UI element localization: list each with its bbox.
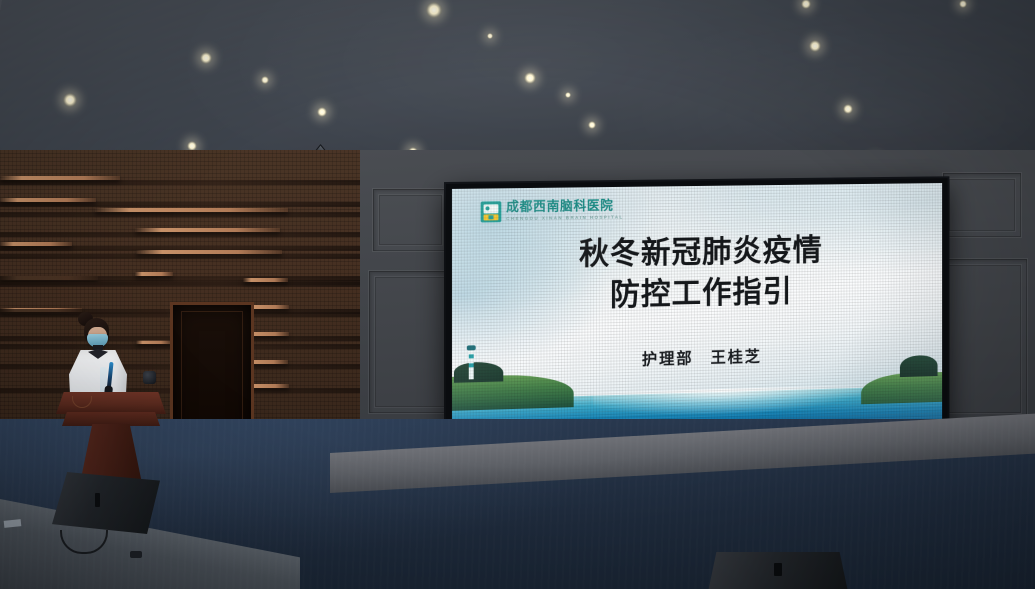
hospital-logo: 成都西南脑科医院 CHENGDU XINAN BRAIN HOSPITAL	[480, 199, 623, 222]
ceiling-downlight	[317, 107, 327, 117]
ceiling-downlight	[809, 40, 821, 52]
slide-title-line-2: 防控工作指引	[452, 269, 942, 320]
wall-panel	[372, 188, 449, 252]
ceiling-downlight	[261, 76, 269, 84]
hospital-bed-logo-icon	[480, 201, 501, 222]
stage-floor	[0, 419, 1035, 589]
wall-baseboard	[330, 414, 1035, 493]
wall-slat	[243, 278, 288, 282]
ceiling-downlight	[565, 92, 571, 98]
stage-monitor-right	[708, 552, 848, 589]
ceiling-downlight	[588, 121, 596, 129]
microphone-base	[143, 371, 156, 384]
wall-slat-shadow	[0, 180, 360, 185]
logo-bed-shape	[483, 204, 498, 213]
wall-slat	[0, 176, 120, 180]
wall-slat	[95, 208, 288, 212]
ceiling-downlight	[487, 33, 493, 39]
wall-slat	[0, 198, 96, 202]
hospital-logo-text: 成都西南脑科医院 CHENGDU XINAN BRAIN HOSPITAL	[506, 200, 624, 222]
wall-slat-shadow	[0, 232, 360, 237]
hospital-name-cn: 成都西南脑科医院	[506, 200, 624, 214]
wall-slat-shadow	[0, 254, 360, 259]
conference-hall-photo: 成都西南脑科医院 CHENGDU XINAN BRAIN HOSPITAL 秋冬…	[0, 0, 1035, 589]
stage-monitor-left	[52, 472, 160, 534]
wall-slat	[136, 250, 282, 254]
wall-slat-shadow	[0, 202, 360, 207]
wall-slat-shadow	[0, 282, 360, 287]
floor-object	[130, 551, 142, 558]
ceiling-downlight	[63, 93, 77, 107]
wall-slat	[0, 242, 72, 246]
wall-slat-shadow	[0, 212, 360, 217]
wall-slat	[135, 272, 173, 276]
ceiling-downlight	[524, 72, 536, 84]
wall-panel	[942, 172, 1022, 238]
wall-panel	[940, 258, 1028, 420]
podium-mid-tier	[62, 412, 160, 426]
ceiling-downlight	[200, 52, 212, 64]
wall-slat-shadow	[0, 276, 360, 281]
ceiling-downlight	[426, 2, 442, 18]
hospital-name-en: CHENGDU XINAN BRAIN HOSPITAL	[506, 215, 624, 221]
ceiling-downlight	[959, 0, 967, 8]
wall-slat	[135, 228, 280, 232]
wall-panel	[368, 270, 452, 414]
ceiling-downlight	[843, 104, 853, 114]
slide-title: 秋冬新冠肺炎疫情 防控工作指引	[452, 230, 942, 320]
logo-base-shape	[483, 214, 498, 220]
slide-subtitle: 护理部 王桂芝	[452, 339, 942, 375]
